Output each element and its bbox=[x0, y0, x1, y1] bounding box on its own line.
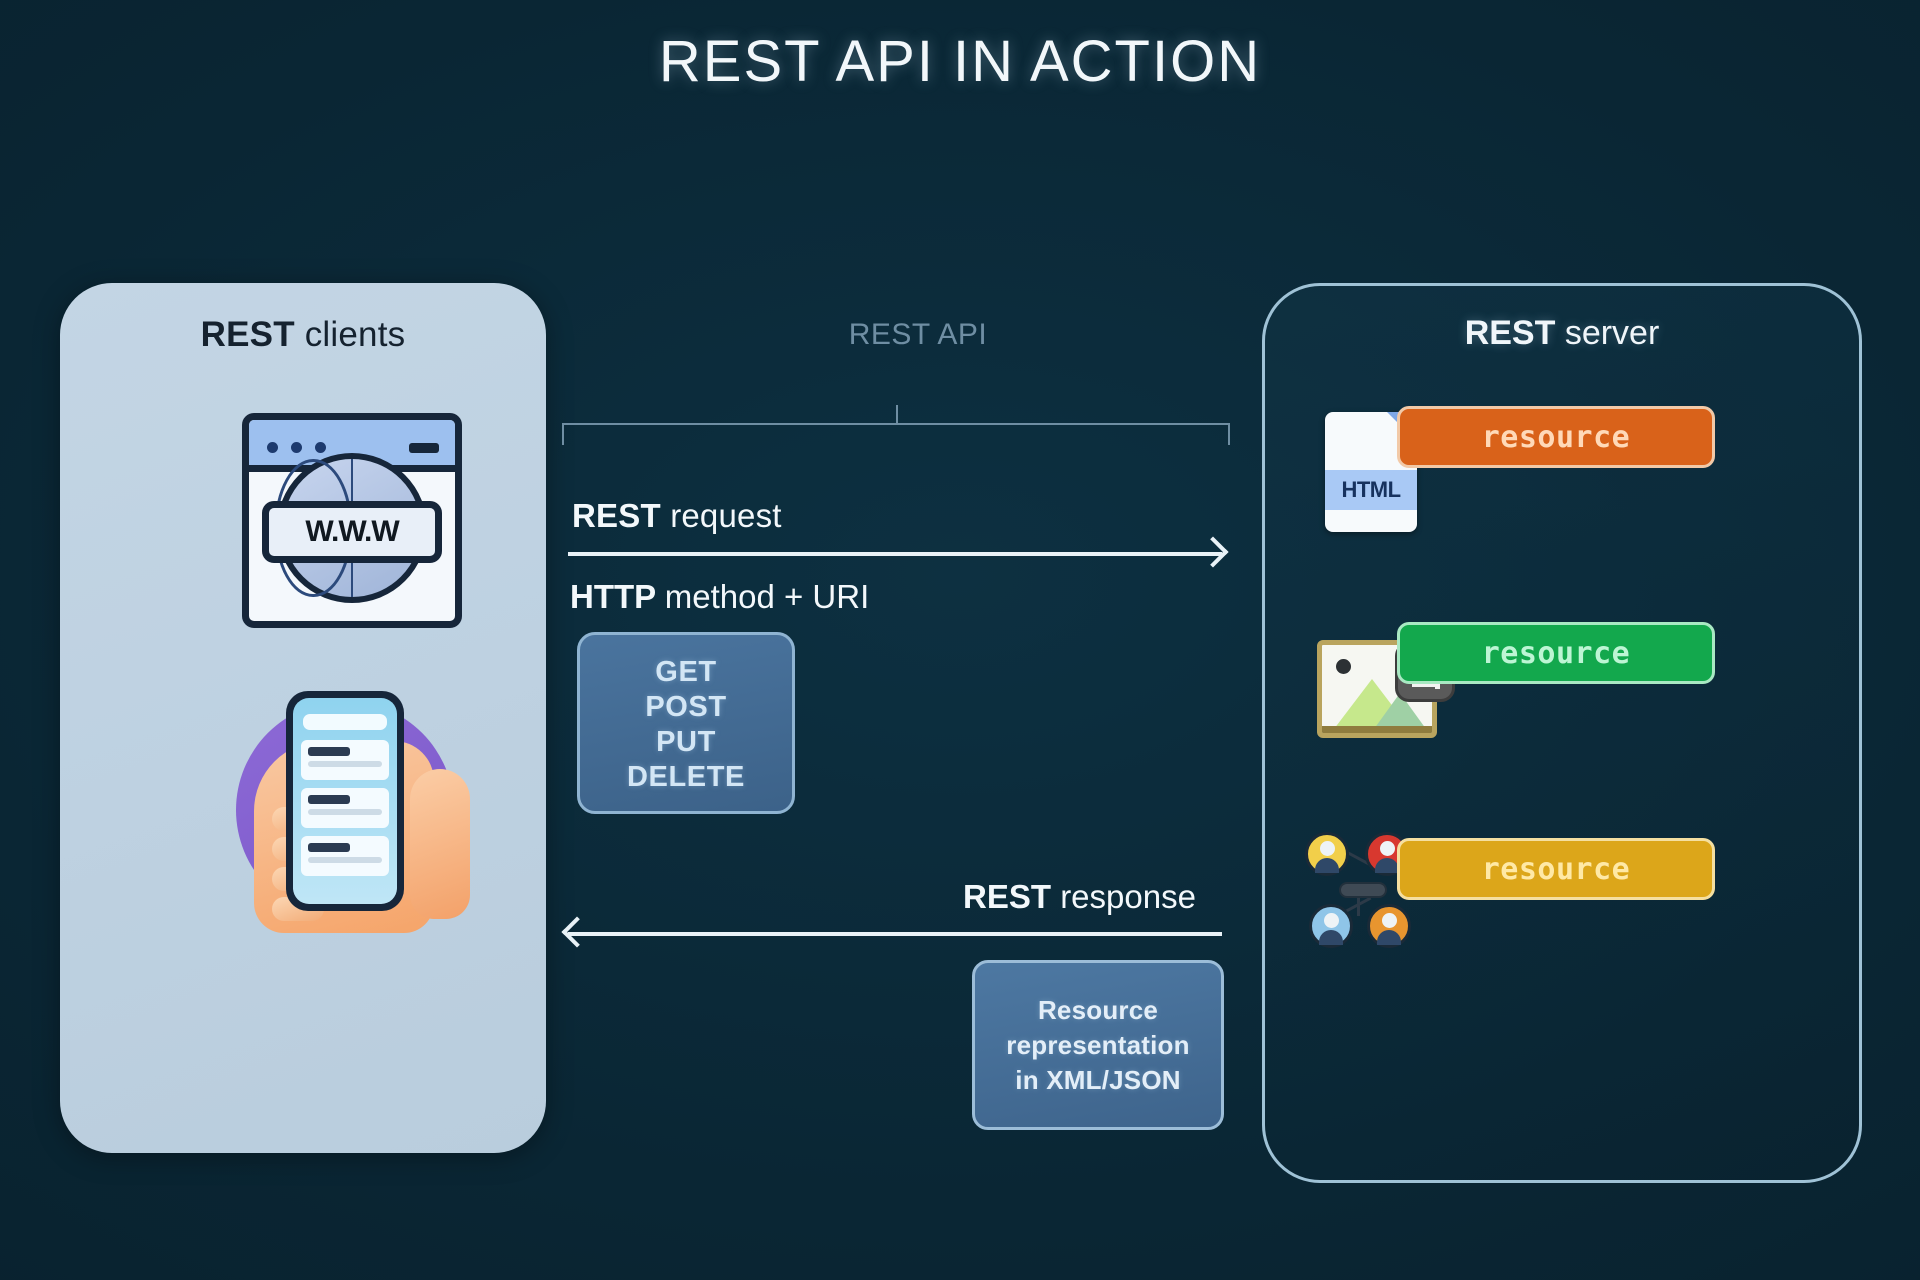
http-label-bold: HTTP bbox=[570, 578, 656, 615]
rest-clients-heading-bold: REST bbox=[201, 315, 295, 354]
rest-response-label-bold: REST bbox=[963, 878, 1051, 915]
http-method-uri-label: HTTP method + URI bbox=[570, 578, 869, 616]
smartphone-screen bbox=[293, 698, 397, 904]
image-sun-icon bbox=[1336, 659, 1351, 674]
http-method-get: GET bbox=[655, 656, 716, 689]
representation-line-1: Resource bbox=[1038, 995, 1158, 1026]
http-method-post: POST bbox=[645, 691, 726, 724]
avatar bbox=[1305, 832, 1349, 876]
representation-line-3: in XML/JSON bbox=[1015, 1065, 1180, 1096]
html-file-label: HTML bbox=[1325, 470, 1417, 510]
browser-dot-icon bbox=[315, 442, 326, 453]
request-arrow bbox=[568, 552, 1222, 556]
rest-clients-panel: REST clients W.W.W bbox=[60, 283, 546, 1153]
rest-server-panel: REST server HTML resource bbox=[1262, 283, 1862, 1183]
screen-search-bar bbox=[303, 714, 387, 730]
resource-badge-orange: resource bbox=[1397, 406, 1715, 468]
image-base bbox=[1322, 726, 1432, 733]
screen-list-item bbox=[301, 740, 389, 780]
resource-row: resource bbox=[1265, 814, 1859, 974]
screen-list-item bbox=[301, 788, 389, 828]
rest-clients-heading-thin: clients bbox=[305, 315, 406, 354]
browser-minimize-icon bbox=[409, 443, 439, 453]
users-hub-node bbox=[1339, 882, 1387, 898]
avatar bbox=[1367, 904, 1411, 948]
rest-server-heading: REST server bbox=[1265, 314, 1859, 353]
rest-clients-heading: REST clients bbox=[60, 315, 546, 355]
www-browser-icon: W.W.W bbox=[242, 413, 462, 628]
rest-api-label: REST API bbox=[828, 318, 1008, 352]
rest-response-label: REST response bbox=[963, 878, 1196, 916]
http-label-thin: method + URI bbox=[665, 578, 870, 615]
browser-dot-icon bbox=[267, 442, 278, 453]
hand-holding-phone-icon bbox=[226, 683, 476, 933]
rest-request-label-thin: request bbox=[670, 497, 781, 534]
http-methods-box: GET POST PUT DELETE bbox=[577, 632, 795, 814]
diagram-canvas: REST API IN ACTION REST clients bbox=[0, 0, 1920, 1280]
page-title: REST API IN ACTION bbox=[0, 28, 1920, 95]
browser-dot-icon bbox=[291, 442, 302, 453]
browser-frame: W.W.W bbox=[242, 413, 462, 628]
resource-badge-green: resource bbox=[1397, 622, 1715, 684]
thumb-shape bbox=[410, 769, 470, 919]
smartphone-body bbox=[286, 691, 404, 911]
rest-server-heading-thin: server bbox=[1565, 314, 1659, 352]
rest-server-heading-bold: REST bbox=[1465, 314, 1556, 352]
screen-text-line bbox=[308, 809, 382, 815]
http-method-delete: DELETE bbox=[627, 761, 745, 794]
rest-response-label-thin: response bbox=[1060, 878, 1196, 915]
bracket-tick bbox=[896, 405, 898, 425]
www-label: W.W.W bbox=[262, 501, 442, 563]
resource-representation-box: Resource representation in XML/JSON bbox=[972, 960, 1224, 1130]
response-arrow bbox=[568, 932, 1222, 936]
rest-api-bracket bbox=[562, 423, 1230, 445]
representation-line-2: representation bbox=[1006, 1030, 1189, 1061]
screen-text-line bbox=[308, 857, 382, 863]
screen-list-item bbox=[301, 836, 389, 876]
screen-chip bbox=[308, 795, 350, 804]
resource-row: HTML resource bbox=[1265, 382, 1859, 542]
screen-chip bbox=[308, 843, 350, 852]
rest-request-label: REST request bbox=[572, 497, 782, 535]
rest-request-label-bold: REST bbox=[572, 497, 661, 534]
resource-row: resource bbox=[1265, 598, 1859, 758]
screen-text-line bbox=[308, 761, 382, 767]
resource-badge-yellow: resource bbox=[1397, 838, 1715, 900]
screen-chip bbox=[308, 747, 350, 756]
http-method-put: PUT bbox=[656, 726, 716, 759]
avatar bbox=[1309, 904, 1353, 948]
